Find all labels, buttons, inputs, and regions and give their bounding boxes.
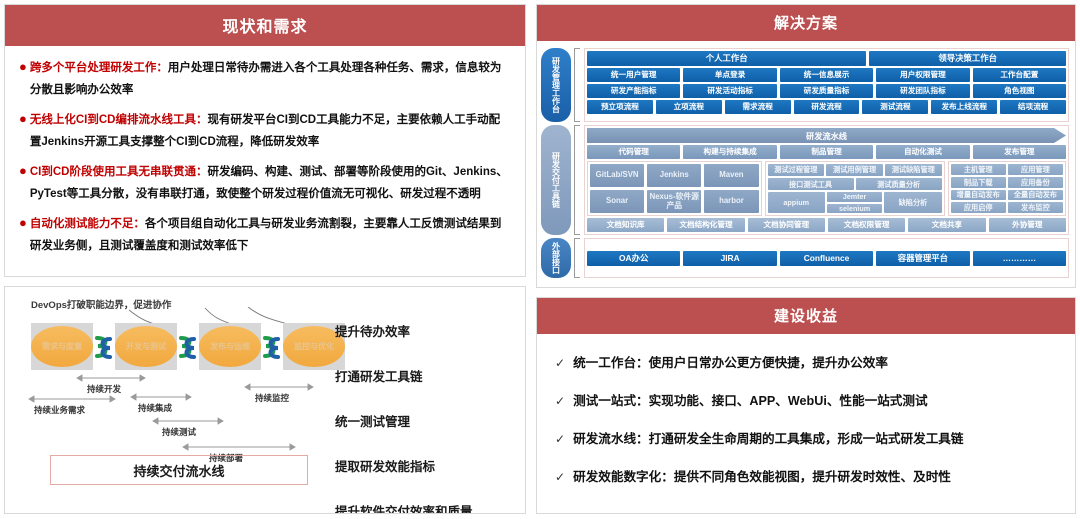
infinity-icon: [93, 332, 115, 362]
tool-test-process-mgmt[interactable]: 测试过程管理: [768, 164, 825, 176]
tile-closing-flow[interactable]: 结项流程: [1000, 100, 1066, 114]
release-row-4: 应用启停 发布监控: [951, 202, 1063, 213]
layer-label-external-interface: 外部接口: [541, 238, 571, 278]
benefit-highlight: 统一工作台：: [573, 356, 649, 370]
tool-defect-analysis[interactable]: 缺陷分析: [884, 192, 941, 213]
tool-host-mgmt[interactable]: 主机管理: [951, 164, 1006, 175]
tile-rd-flow[interactable]: 研发流程: [794, 100, 860, 114]
tile-doc-structure-mgmt[interactable]: 文档结构化管理: [667, 218, 744, 232]
tool-release-monitor[interactable]: 发布监控: [1008, 202, 1063, 213]
tile-unified-info-display[interactable]: 统一信息展示: [780, 68, 873, 82]
slide-root: 现状和需求 ● 跨多个平台处理研发工作：用户处理日常待办需进入各个工具处理各种任…: [0, 0, 1080, 519]
stage-artifact-mgmt[interactable]: 制品管理: [780, 145, 873, 159]
bullet-dot-icon: ●: [19, 213, 27, 258]
tool-test-quality-analysis[interactable]: 测试质量分析: [856, 178, 942, 190]
toolcol-code: GitLab/SVN Sonar: [590, 164, 644, 213]
list-item: ✓ 研发效能数字化：提供不同角色效能视图，提升研发时效性、及时性: [555, 466, 1059, 485]
bullet-dot-icon: ●: [19, 57, 27, 102]
tool-incremental-release[interactable]: 增量自动发布: [951, 190, 1006, 201]
test-tool-substack: Jemter selenium: [827, 192, 882, 213]
test-stack: 测试过程管理 测试用例管理 测试缺陷管理 接口测试工具 测试质量分析: [768, 164, 942, 213]
list-item: ● 无线上化CI到CD编排流水线工具：现有研发平台CI到CD工具能力不足，主要依…: [19, 109, 511, 154]
stage-label: 监控与优化: [294, 341, 334, 352]
devops-stage-row: 需求与度量 开发与测试: [31, 323, 345, 370]
stage-label: 开发与测试: [126, 341, 166, 352]
tool-selenium[interactable]: selenium: [827, 204, 882, 213]
tile-leader-decision-workbench[interactable]: 领导决策工作台: [869, 51, 1066, 66]
tool-app-mgmt[interactable]: 应用管理: [1008, 164, 1063, 175]
toolcol-artifact: Maven harbor: [704, 164, 758, 213]
bullet-highlight: 跨多个平台处理研发工作：: [30, 62, 168, 74]
outcome-item: 统一测试管理: [335, 411, 473, 430]
panel-status-title: 现状和需求: [5, 5, 525, 46]
test-row-tools: appium Jemter selenium 缺陷分析: [768, 192, 942, 213]
layer-brackets: [574, 48, 581, 280]
outcome-item: 提升待办效率: [335, 321, 473, 340]
outcome-item: 提升软件交付效率和质量: [335, 501, 473, 514]
group-external-interface: OA办公 JIRA Confluence 容器管理平台 …………: [584, 238, 1069, 278]
tile-rd-capacity-metrics[interactable]: 研发产能指标: [587, 84, 680, 98]
panel-benefits: 建设收益 ✓ 统一工作台：使用户日常办公更方便快捷，提升办公效率 ✓ 测试一站式…: [536, 297, 1076, 514]
tool-api-test[interactable]: 接口测试工具: [768, 178, 854, 190]
tile-more-placeholder[interactable]: …………: [973, 251, 1066, 266]
tile-doc-knowledge-base[interactable]: 文档知识库: [587, 218, 664, 232]
tile-oa[interactable]: OA办公: [587, 251, 680, 266]
tool-nexus[interactable]: Nexus-软件源产品: [647, 190, 701, 213]
tool-test-case-mgmt[interactable]: 测试用例管理: [826, 164, 883, 176]
tool-app-backup[interactable]: 应用备份: [1008, 177, 1063, 188]
diagram-outcome-list: 提升待办效率 打通研发工具链 统一测试管理 提取研发效能指标 提升软件交付效率和…: [335, 321, 473, 514]
tile-release-flow[interactable]: 发布上线流程: [931, 100, 997, 114]
bracket: [574, 238, 580, 278]
tile-requirement-flow[interactable]: 需求流程: [725, 100, 791, 114]
infinity-icon: [261, 332, 283, 362]
benefit-highlight: 研发流水线：: [573, 432, 649, 446]
tile-personal-workbench[interactable]: 个人工作台: [587, 51, 866, 66]
list-item: ✓ 统一工作台：使用户日常办公更方便快捷，提升办公效率: [555, 352, 1059, 371]
tile-doc-collab-mgmt[interactable]: 文档协同管理: [748, 218, 825, 232]
release-row-1: 主机管理 应用管理: [951, 164, 1063, 175]
benefit-body: 实现功能、接口、APP、WebUi、性能一站式测试: [649, 394, 928, 408]
arrow-label: 持续开发: [87, 383, 121, 395]
bullet-dot-icon: ●: [19, 161, 27, 206]
tile-project-flow[interactable]: 立项流程: [656, 100, 722, 114]
list-item: ● 自动化测试能力不足：各个项目组自动化工具与研发业务流割裂，主要靠人工反馈测试…: [19, 213, 511, 258]
stage-release-mgmt[interactable]: 发布管理: [973, 145, 1066, 159]
tile-doc-permission-mgmt[interactable]: 文档权限管理: [828, 218, 905, 232]
release-row-3: 增量自动发布 全量自动发布: [951, 190, 1063, 201]
benefit-body: 使用户日常办公更方便快捷，提升办公效率: [649, 356, 888, 370]
tile-rd-team-metrics[interactable]: 研发团队指标: [876, 84, 969, 98]
panel-solution: 解决方案 研发管理工作台 研发交付工具链 外部接口 个人工作台: [536, 4, 1076, 288]
test-row-top: 测试过程管理 测试用例管理 测试缺陷管理: [768, 164, 942, 176]
stage-oval: 开发与测试: [115, 326, 177, 367]
list-item: ✓ 研发流水线：打通研发全生命周期的工具集成，形成一站式研发工具链: [555, 428, 1059, 447]
check-icon: ✓: [555, 470, 565, 484]
benefit-highlight: 研发效能数字化：: [573, 470, 674, 484]
stage-build-ci[interactable]: 构建与持续集成: [683, 145, 776, 159]
tile-container-platform[interactable]: 容器管理平台: [876, 251, 969, 266]
tile-single-sign-on[interactable]: 单点登录: [683, 68, 776, 82]
architecture-content: 个人工作台 领导决策工作台 统一用户管理 单点登录 统一信息展示 用户权限管理 …: [584, 48, 1069, 280]
solution-architecture: 研发管理工作台 研发交付工具链 外部接口 个人工作台 领导决策工作台: [537, 41, 1075, 287]
list-item: ● CI到CD阶段使用工具无串联贯通：研发编码、构建、测试、部署等阶段使用的Gi…: [19, 161, 511, 206]
list-item: ● 跨多个平台处理研发工作：用户处理日常待办需进入各个工具处理各种任务、需求，信…: [19, 57, 511, 102]
workbench-top-row: 个人工作台 领导决策工作台: [587, 51, 1066, 66]
tool-appium[interactable]: appium: [768, 192, 825, 213]
tool-sonar[interactable]: Sonar: [590, 190, 644, 213]
arrow-label: 持续集成: [138, 402, 172, 414]
layer-label-delivery-toolchain: 研发交付工具链: [541, 125, 571, 235]
pipeline-arrow-banner: 研发流水线: [587, 128, 1066, 143]
tile-jira[interactable]: JIRA: [683, 251, 776, 266]
devops-stage-requirements: 需求与度量: [31, 323, 93, 370]
tile-user-permission-mgmt[interactable]: 用户权限管理: [876, 68, 969, 82]
left-column: 现状和需求 ● 跨多个平台处理研发工作：用户处理日常待办需进入各个工具处理各种任…: [4, 4, 526, 515]
toolcol-build: Jenkins Nexus-软件源产品: [647, 164, 701, 213]
devops-stage-release-ops: 发布与运维: [199, 323, 261, 370]
stage-label: 需求与度量: [42, 341, 82, 352]
tool-app-start-stop[interactable]: 应用启停: [951, 202, 1006, 213]
tool-jenkins[interactable]: Jenkins: [647, 164, 701, 187]
toolgroup-release: 主机管理 应用管理 制品下载 应用备份 增量自动发布: [948, 161, 1066, 216]
toolgroup-testing: 测试过程管理 测试用例管理 测试缺陷管理 接口测试工具 测试质量分析: [765, 161, 945, 216]
release-row-2: 制品下载 应用备份: [951, 177, 1063, 188]
outcome-item: 提取研发效能指标: [335, 456, 473, 475]
right-column: 解决方案 研发管理工作台 研发交付工具链 外部接口 个人工作台: [536, 4, 1076, 515]
workbench-row-3: 预立项流程 立项流程 需求流程 研发流程 测试流程 发布上线流程 结项流程: [587, 100, 1066, 114]
tile-role-view[interactable]: 角色视图: [973, 84, 1066, 98]
external-row: OA办公 JIRA Confluence 容器管理平台 …………: [587, 251, 1066, 266]
tile-outsourcing-mgmt[interactable]: 外协管理: [989, 218, 1066, 232]
panel-solution-title: 解决方案: [537, 5, 1075, 41]
bullet-highlight: 无线上化CI到CD编排流水线工具：: [30, 114, 208, 126]
bracket: [574, 125, 580, 235]
tool-gitlab-svn[interactable]: GitLab/SVN: [590, 164, 644, 187]
continuous-delivery-pipeline-box: 持续交付流水线: [50, 455, 308, 485]
infinity-icon: [177, 332, 199, 362]
tile-rd-quality-metrics[interactable]: 研发质量指标: [780, 84, 873, 98]
check-icon: ✓: [555, 432, 565, 446]
bullet-dot-icon: ●: [19, 109, 27, 154]
tile-unified-user-mgmt[interactable]: 统一用户管理: [587, 68, 680, 82]
stage-oval: 发布与运维: [199, 326, 261, 367]
benefit-highlight: 测试一站式：: [573, 394, 649, 408]
tool-jmeter[interactable]: Jemter: [827, 192, 882, 201]
tool-maven[interactable]: Maven: [704, 164, 758, 187]
devops-stage-develop-test: 开发与测试: [115, 323, 177, 370]
arrow-label: 持续测试: [162, 426, 196, 438]
arrow-label: 持续业务需求: [34, 404, 85, 416]
release-stack: 主机管理 应用管理 制品下载 应用备份 增量自动发布: [951, 164, 1063, 213]
diagram-canvas: DevOps打破职能边界，促进协作 需求与度量: [5, 287, 525, 513]
benefit-body: 提供不同角色效能视图，提升研发时效性、及时性: [674, 470, 951, 484]
tile-pre-project-flow[interactable]: 预立项流程: [587, 100, 653, 114]
stage-automated-test[interactable]: 自动化测试: [876, 145, 969, 159]
check-icon: ✓: [555, 394, 565, 408]
continuous-delivery-pipeline-label: 持续交付流水线: [133, 461, 224, 480]
workbench-row-2: 研发产能指标 研发活动指标 研发质量指标 研发团队指标 角色视图: [587, 84, 1066, 98]
layer-label-management-workbench: 研发管理工作台: [541, 48, 571, 122]
benefit-body: 打通研发全生命周期的工具集成，形成一站式研发工具链: [649, 432, 964, 446]
group-management-workbench: 个人工作台 领导决策工作台 统一用户管理 单点登录 统一信息展示 用户权限管理 …: [584, 48, 1069, 122]
outcome-item: 打通研发工具链: [335, 366, 473, 385]
check-icon: ✓: [555, 356, 565, 370]
bullet-highlight: 自动化测试能力不足：: [30, 218, 145, 230]
tool-harbor[interactable]: harbor: [704, 190, 758, 213]
panel-benefits-title: 建设收益: [537, 298, 1075, 334]
benefit-list: ✓ 统一工作台：使用户日常办公更方便快捷，提升办公效率 ✓ 测试一站式：实现功能…: [537, 334, 1075, 495]
tool-full-release[interactable]: 全量自动发布: [1008, 190, 1063, 201]
toolchain-detail: GitLab/SVN Sonar Jenkins Nexus-软件源产品 Mav…: [587, 161, 1066, 216]
document-row: 文档知识库 文档结构化管理 文档协同管理 文档权限管理 文档共享 外协管理: [587, 218, 1066, 232]
tile-rd-activity-metrics[interactable]: 研发活动指标: [683, 84, 776, 98]
pipeline-stage-row: 代码管理 构建与持续集成 制品管理 自动化测试 发布管理: [587, 145, 1066, 159]
workbench-row-1: 统一用户管理 单点登录 统一信息展示 用户权限管理 工作台配置: [587, 68, 1066, 82]
stage-label: 发布与运维: [210, 341, 250, 352]
bullet-highlight: CI到CD阶段使用工具无串联贯通：: [30, 166, 208, 178]
tile-doc-sharing[interactable]: 文档共享: [908, 218, 985, 232]
stage-code-mgmt[interactable]: 代码管理: [587, 145, 680, 159]
group-delivery-toolchain: 研发流水线 代码管理 构建与持续集成 制品管理 自动化测试 发布管理: [584, 125, 1069, 235]
bracket: [574, 48, 580, 122]
tile-workbench-config[interactable]: 工作台配置: [973, 68, 1066, 82]
tile-confluence[interactable]: Confluence: [780, 251, 873, 266]
tool-artifact-download[interactable]: 制品下载: [951, 177, 1006, 188]
test-row-mid: 接口测试工具 测试质量分析: [768, 178, 942, 190]
list-item: ✓ 测试一站式：实现功能、接口、APP、WebUi、性能一站式测试: [555, 390, 1059, 409]
tool-test-defect-mgmt[interactable]: 测试缺陷管理: [885, 164, 942, 176]
panel-devops-diagram: DevOps打破职能边界，促进协作 需求与度量: [4, 286, 526, 514]
panel-status-and-needs: 现状和需求 ● 跨多个平台处理研发工作：用户处理日常待办需进入各个工具处理各种任…: [4, 4, 526, 277]
tile-test-flow[interactable]: 测试流程: [862, 100, 928, 114]
status-bullet-list: ● 跨多个平台处理研发工作：用户处理日常待办需进入各个工具处理各种任务、需求，信…: [5, 46, 525, 270]
arrow-label: 持续监控: [255, 392, 289, 404]
architecture-layer-labels: 研发管理工作台 研发交付工具链 外部接口: [541, 48, 571, 280]
stage-oval: 需求与度量: [31, 326, 93, 367]
toolgroup-scm-build: GitLab/SVN Sonar Jenkins Nexus-软件源产品 Mav…: [587, 161, 762, 216]
